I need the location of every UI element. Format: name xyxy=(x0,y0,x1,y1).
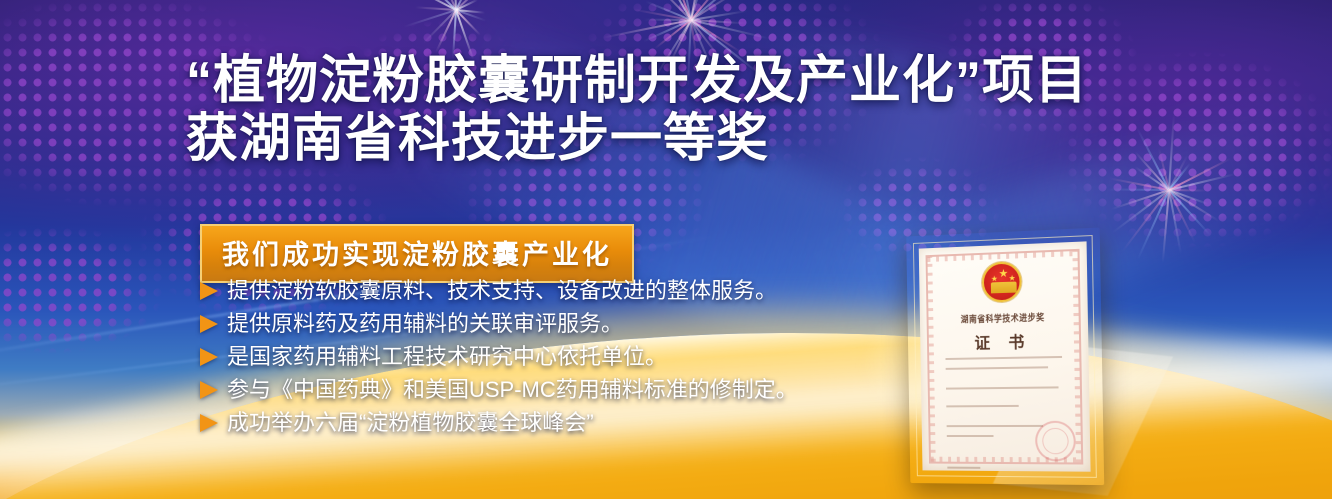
arrow-right-icon xyxy=(200,315,218,333)
list-item-label: 提供淀粉软胶囊原料、技术支持、设备改进的整体服务。 xyxy=(227,276,777,305)
promotional-banner: “植物淀粉胶囊研制开发及产业化”项目 获湖南省科技进步一等奖 我们成功实现淀粉胶… xyxy=(0,0,1332,499)
list-item: 是国家药用辅料工程技术研究中心依托单位。 xyxy=(200,342,798,371)
arrow-right-icon xyxy=(200,414,218,432)
certificate-document-type: 证 书 xyxy=(920,327,1088,355)
list-item: 提供淀粉软胶囊原料、技术支持、设备改进的整体服务。 xyxy=(200,276,798,305)
headline-line-2: 获湖南省科技进步一等奖 xyxy=(186,110,1186,168)
list-item: 成功举办六届“淀粉植物胶囊全球峰会” xyxy=(200,408,798,437)
list-item-label: 参与《中国药典》和美国USP-MC药用辅料标准的修制定。 xyxy=(227,375,798,404)
subtitle-banner: 我们成功实现淀粉胶囊产业化 xyxy=(200,224,634,283)
feature-list: 提供淀粉软胶囊原料、技术支持、设备改进的整体服务。 提供原料药及药用辅料的关联审… xyxy=(200,276,798,441)
list-item-label: 成功举办六届“淀粉植物胶囊全球峰会” xyxy=(227,408,594,437)
arrow-right-icon xyxy=(200,381,218,399)
certificate-paper: ★ ★ ★ ★ ★ 湖南省科学技术进步奖 证 书 xyxy=(919,241,1091,471)
list-item: 提供原料药及药用辅料的关联审评服务。 xyxy=(200,309,798,338)
list-item-label: 是国家药用辅料工程技术研究中心依托单位。 xyxy=(227,342,667,371)
list-item: 参与《中国药典》和美国USP-MC药用辅料标准的修制定。 xyxy=(200,375,798,404)
headline-line-1: “植物淀粉胶囊研制开发及产业化”项目 xyxy=(186,52,1088,110)
page-title: “植物淀粉胶囊研制开发及产业化”项目 获湖南省科技进步一等奖 xyxy=(186,52,1186,168)
list-item-label: 提供原料药及药用辅料的关联审评服务。 xyxy=(227,309,623,338)
subtitle-banner-label: 我们成功实现淀粉胶囊产业化 xyxy=(222,240,612,270)
arrow-right-icon xyxy=(200,348,218,366)
award-certificate-image: ★ ★ ★ ★ ★ 湖南省科学技术进步奖 证 书 xyxy=(905,232,1137,494)
arrow-right-icon xyxy=(200,282,218,300)
certificate-frame: ★ ★ ★ ★ ★ 湖南省科学技术进步奖 证 书 xyxy=(906,228,1104,486)
